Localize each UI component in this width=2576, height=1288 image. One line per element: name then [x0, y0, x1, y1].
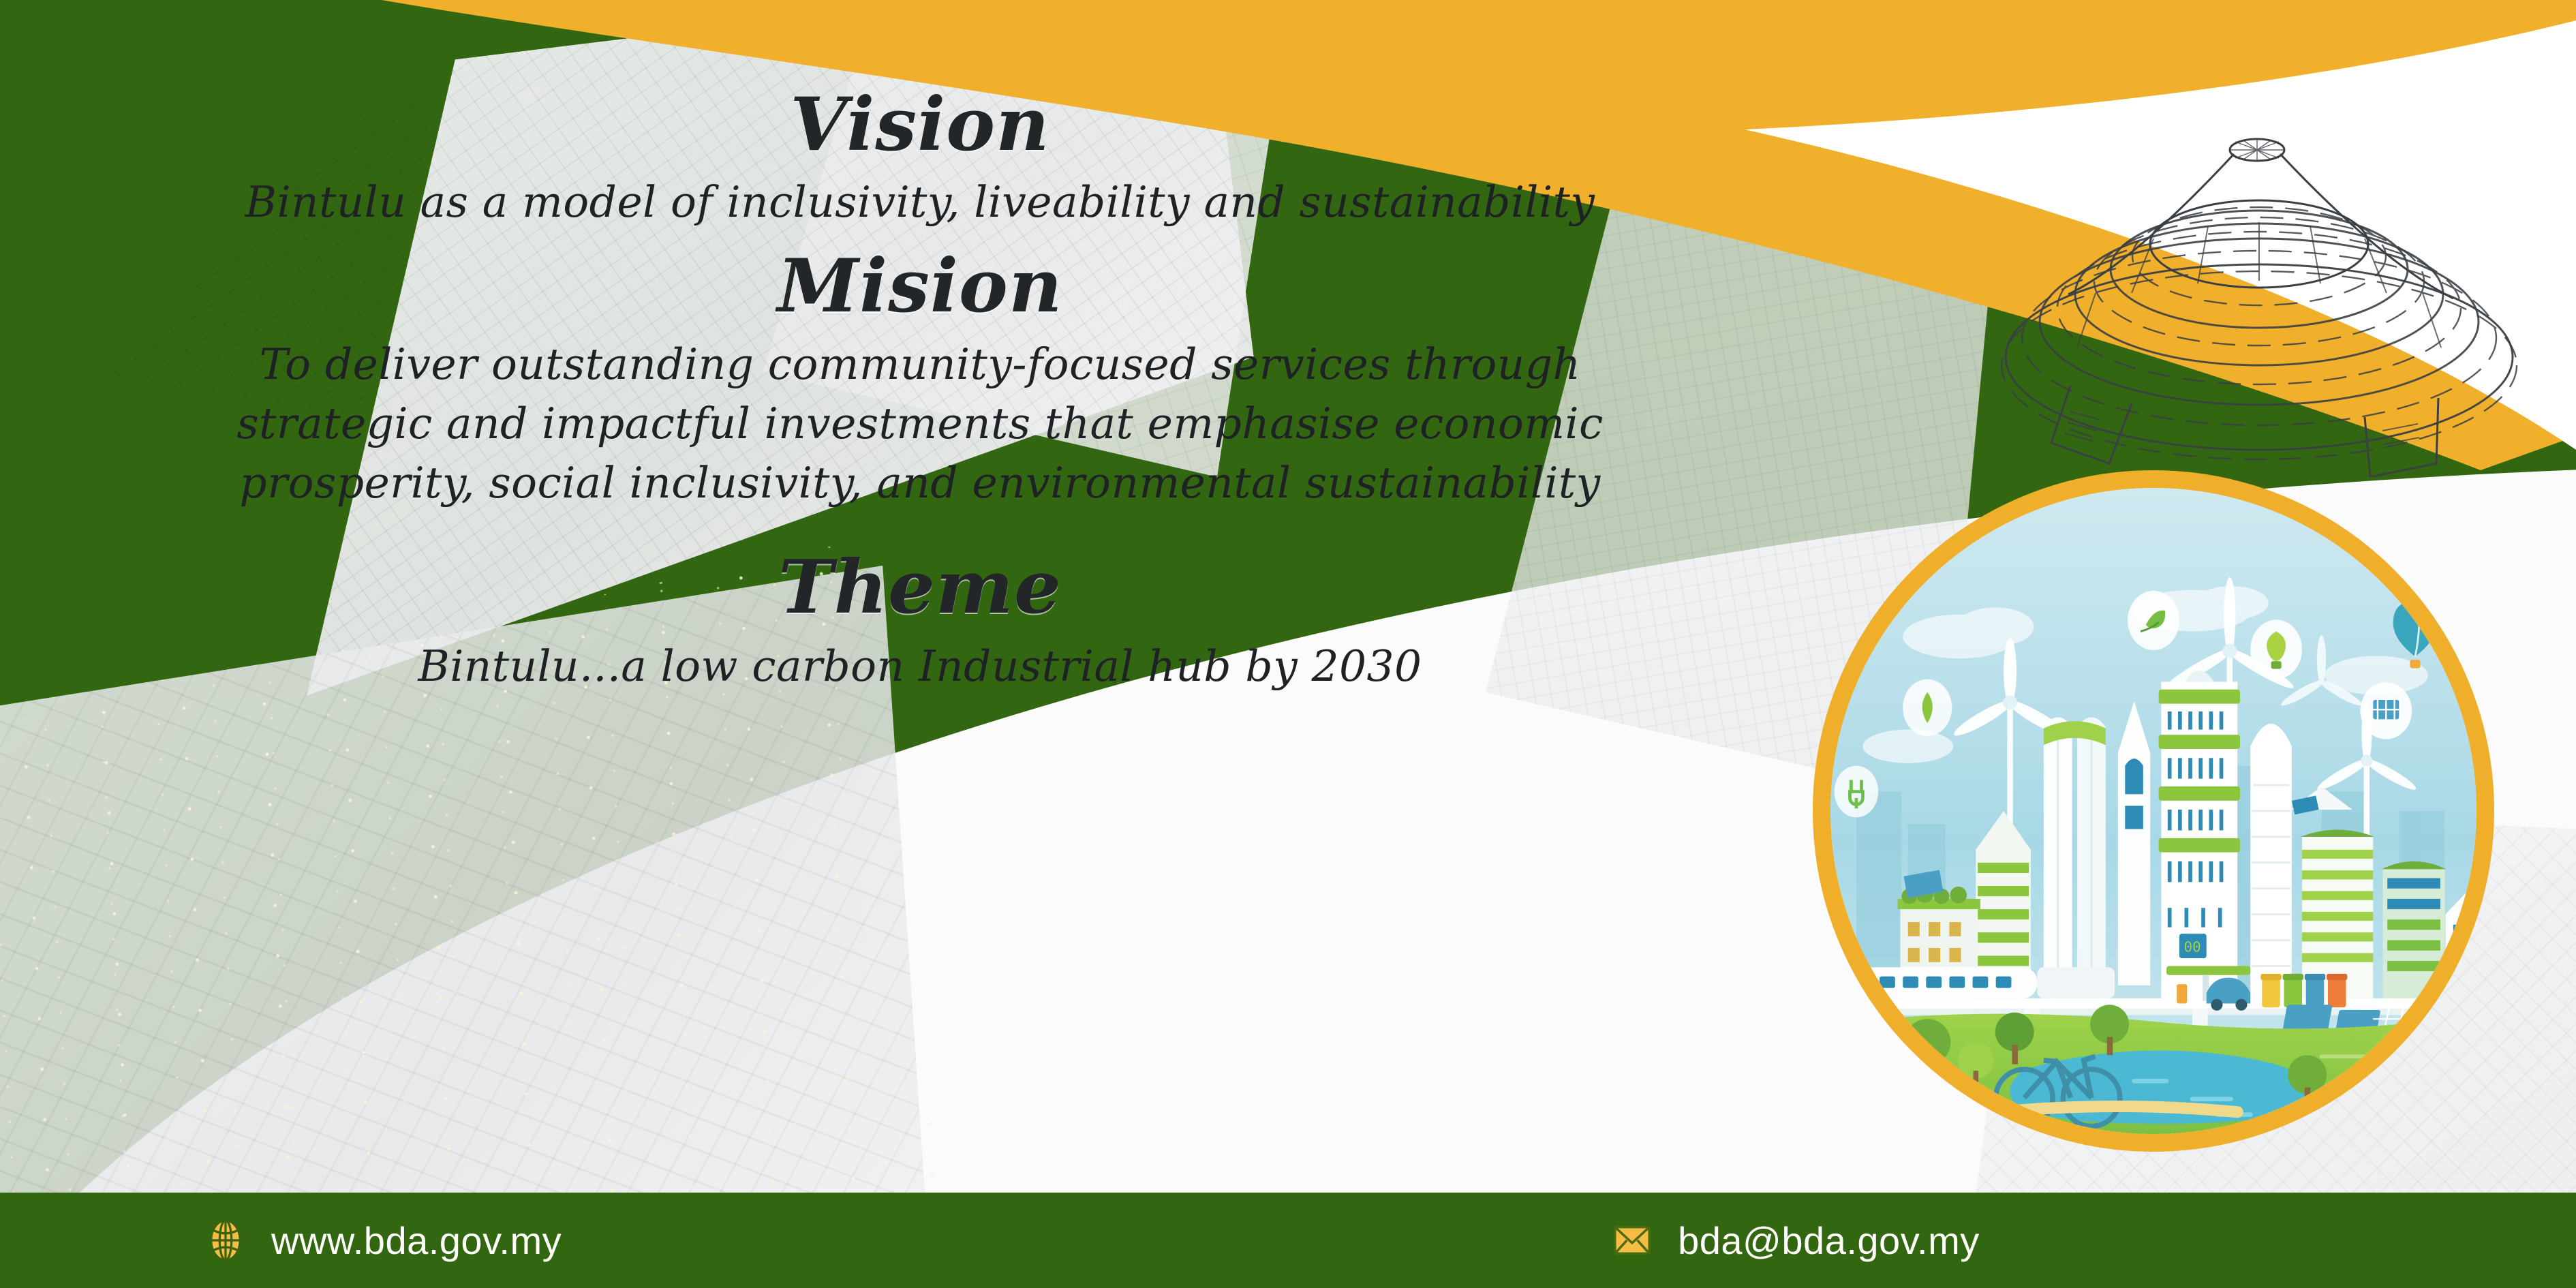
footer-website-text: www.bda.gov.my: [271, 1218, 562, 1263]
footer-bar: www.bda.gov.my bda@bda.gov.my: [0, 1193, 2576, 1288]
svg-text:00: 00: [2184, 939, 2201, 955]
globe-icon: [204, 1219, 247, 1261]
mission-line-1: To deliver outstanding community-focused…: [0, 335, 1840, 395]
footer-email-item[interactable]: bda@bda.gov.my: [1611, 1218, 1980, 1263]
vision-mission-theme-content: Vision Bintulu as a model of inclusivity…: [0, 0, 1840, 696]
mission-heading: Mision: [0, 247, 1840, 325]
vision-text: Bintulu as a model of inclusivity, livea…: [0, 173, 1840, 232]
theme-heading: Theme: [0, 549, 1840, 626]
footer-website-item[interactable]: www.bda.gov.my: [204, 1218, 562, 1263]
vision-heading: Vision: [0, 86, 1840, 164]
theme-block: Theme Bintulu...a low carbon Industrial …: [0, 549, 1840, 696]
vision-block: Vision Bintulu as a model of inclusivity…: [0, 86, 1840, 232]
footer-email-text: bda@bda.gov.my: [1678, 1218, 1980, 1263]
eco-city-illustration: 00: [1813, 470, 2494, 1152]
mission-line-2: strategic and impactful investments that…: [0, 395, 1840, 454]
banner-root: 00: [0, 0, 2576, 1288]
mission-line-3: prosperity, social inclusivity, and envi…: [0, 454, 1840, 513]
mission-block: Mision To deliver outstanding community-…: [0, 247, 1840, 512]
dome-building-illustration: [1949, 123, 2562, 477]
envelope-icon: [1611, 1219, 1653, 1261]
theme-text: Bintulu...a low carbon Industrial hub by…: [0, 637, 1840, 696]
